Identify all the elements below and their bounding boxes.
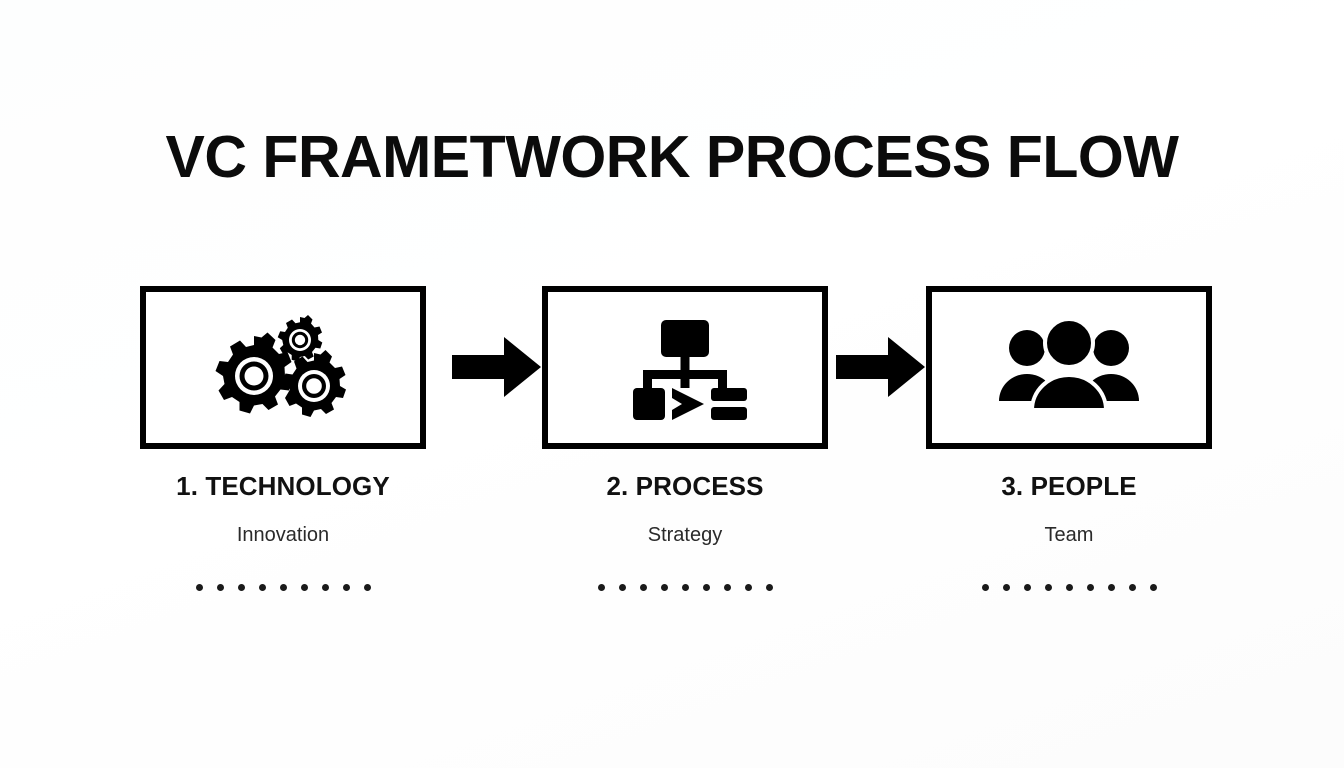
dot xyxy=(1045,584,1052,591)
dot xyxy=(1087,584,1094,591)
process-flow-diagram: 1. TECHNOLOGY Innovation xyxy=(140,286,1210,626)
dot xyxy=(280,584,287,591)
dot xyxy=(364,584,371,591)
dot xyxy=(259,584,266,591)
stage-1-label: 1. TECHNOLOGY xyxy=(140,471,426,502)
slide-canvas: VC FRAMETWORK PROCESS FLOW xyxy=(0,0,1344,768)
stage-2-icon-box xyxy=(542,286,828,449)
gears-icon xyxy=(208,314,358,422)
arrow-right-icon xyxy=(836,334,926,400)
dot xyxy=(619,584,626,591)
stage-1-icon-box xyxy=(140,286,426,449)
stage-2-subtitle: Strategy xyxy=(542,524,828,547)
stage-1-dot-row xyxy=(140,584,426,591)
dot xyxy=(1024,584,1031,591)
dot xyxy=(343,584,350,591)
dot xyxy=(1066,584,1073,591)
arrow-right-icon xyxy=(452,334,542,400)
dot xyxy=(196,584,203,591)
stage-3-subtitle: Team xyxy=(926,524,1212,547)
people-group-icon xyxy=(994,318,1144,418)
stage-2-label: 2. PROCESS xyxy=(542,471,828,502)
dot xyxy=(322,584,329,591)
dot xyxy=(724,584,731,591)
stage-technology[interactable]: 1. TECHNOLOGY Innovation xyxy=(140,286,426,591)
dot xyxy=(217,584,224,591)
dot xyxy=(238,584,245,591)
dot xyxy=(682,584,689,591)
dot xyxy=(661,584,668,591)
dot xyxy=(301,584,308,591)
stage-3-icon-box xyxy=(926,286,1212,449)
dot xyxy=(1003,584,1010,591)
stage-people[interactable]: 3. PEOPLE Team xyxy=(926,286,1212,591)
dot xyxy=(598,584,605,591)
dot xyxy=(1150,584,1157,591)
dot xyxy=(1108,584,1115,591)
dot xyxy=(766,584,773,591)
dot xyxy=(640,584,647,591)
stage-2-dot-row xyxy=(542,584,828,591)
stage-process[interactable]: 2. PROCESS Strategy xyxy=(542,286,828,591)
stage-1-subtitle: Innovation xyxy=(140,524,426,547)
stage-3-label: 3. PEOPLE xyxy=(926,471,1212,502)
dot xyxy=(703,584,710,591)
stage-3-dot-row xyxy=(926,584,1212,591)
connector-arrow-1 xyxy=(452,334,542,400)
page-title: VC FRAMETWORK PROCESS FLOW xyxy=(0,128,1344,187)
hierarchy-icon xyxy=(619,314,751,422)
dot xyxy=(745,584,752,591)
dot xyxy=(982,584,989,591)
dot xyxy=(1129,584,1136,591)
connector-arrow-2 xyxy=(836,334,926,400)
